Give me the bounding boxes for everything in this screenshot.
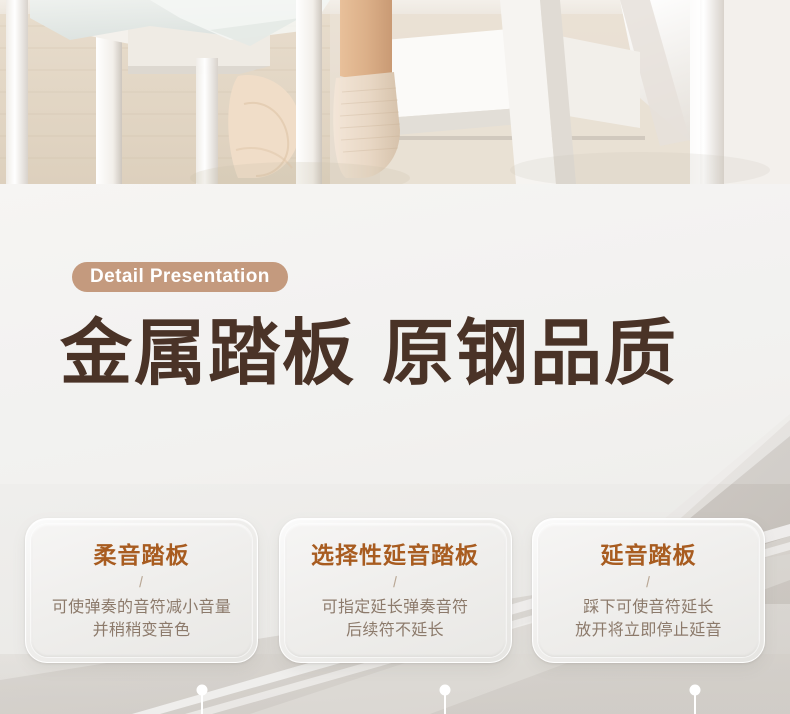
- section-badge-label: Detail Presentation: [90, 266, 270, 288]
- connector-dot-2: [441, 686, 450, 695]
- card-title: 柔音踏板: [94, 543, 190, 568]
- card-content: 选择性延音踏板 / 可指定延长弹奏音符 后续符不延长: [279, 518, 512, 663]
- page-title: 金属踏板原钢品质: [60, 318, 678, 390]
- detail-presentation-page: Detail Presentation 金属踏板原钢品质 柔音踏板 / 可使弹奏…: [0, 0, 790, 714]
- card-description-line2: 并稍稍变音色: [93, 619, 191, 642]
- feature-card-list: 柔音踏板 / 可使弹奏的音符减小音量 并稍稍变音色 选择性延音踏板 / 可指定延…: [0, 518, 790, 668]
- card-title: 延音踏板: [601, 543, 697, 568]
- card-description-line2: 后续符不延长: [346, 619, 444, 642]
- card-content: 延音踏板 / 踩下可使音符延长 放开将立即停止延音: [532, 518, 765, 663]
- card-content: 柔音踏板 / 可使弹奏的音符减小音量 并稍稍变音色: [25, 518, 258, 663]
- connector-dot-1: [198, 686, 207, 695]
- feature-card[interactable]: 选择性延音踏板 / 可指定延长弹奏音符 后续符不延长: [279, 518, 512, 663]
- card-description-line1: 可使弹奏的音符减小音量: [52, 596, 231, 619]
- card-description-line1: 踩下可使音符延长: [583, 596, 713, 619]
- card-separator-icon: /: [646, 575, 651, 590]
- page-title-part2: 原钢品质: [382, 314, 678, 394]
- section-badge: Detail Presentation: [72, 262, 288, 292]
- card-title: 选择性延音踏板: [311, 543, 479, 568]
- card-separator-icon: /: [139, 575, 144, 590]
- card-separator-icon: /: [393, 575, 398, 590]
- card-description-line2: 放开将立即停止延音: [575, 619, 722, 642]
- feature-card[interactable]: 延音踏板 / 踩下可使音符延长 放开将立即停止延音: [532, 518, 765, 663]
- feature-card[interactable]: 柔音踏板 / 可使弹奏的音符减小音量 并稍稍变音色: [25, 518, 258, 663]
- card-description-line1: 可指定延长弹奏音符: [322, 596, 469, 619]
- connector-dot-3: [691, 686, 700, 695]
- page-title-part1: 金属踏板: [60, 314, 356, 394]
